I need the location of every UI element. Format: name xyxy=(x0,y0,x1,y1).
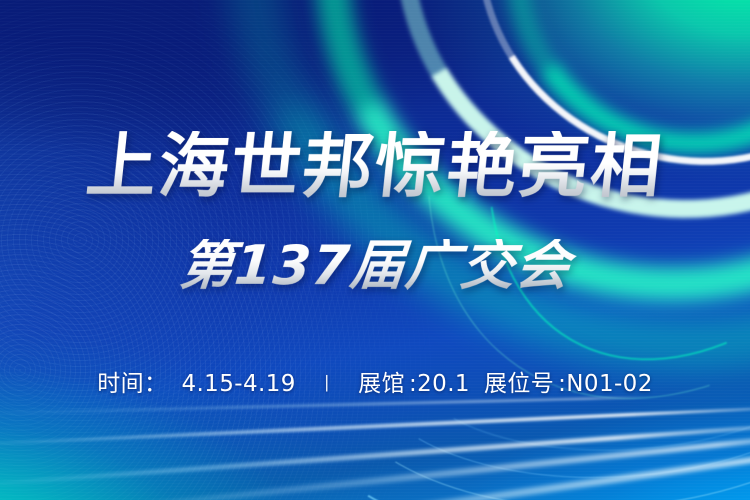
date-label: 时间： xyxy=(95,371,169,399)
booth-label: 展位号 xyxy=(482,371,556,399)
page-subtitle: 第137届广交会 xyxy=(0,239,750,293)
event-details-bar: 时间： 4.15-4.19 丨 展馆 :20.1 展位号 :N01-02 xyxy=(0,371,750,399)
detail-separator: 丨 xyxy=(298,374,356,396)
hall-value: :20.1 xyxy=(407,371,472,399)
date-value: 4.15-4.19 xyxy=(179,371,297,399)
page-title: 上海世邦惊艳亮相 xyxy=(0,131,750,201)
banner-content: 上海世邦惊艳亮相 第137届广交会 时间： 4.15-4.19 丨 展馆 :20… xyxy=(0,0,750,500)
event-promo-banner: 上海世邦惊艳亮相 第137届广交会 时间： 4.15-4.19 丨 展馆 :20… xyxy=(0,0,750,500)
hall-label: 展馆 xyxy=(356,371,407,399)
booth-value: :N01-02 xyxy=(556,371,655,399)
